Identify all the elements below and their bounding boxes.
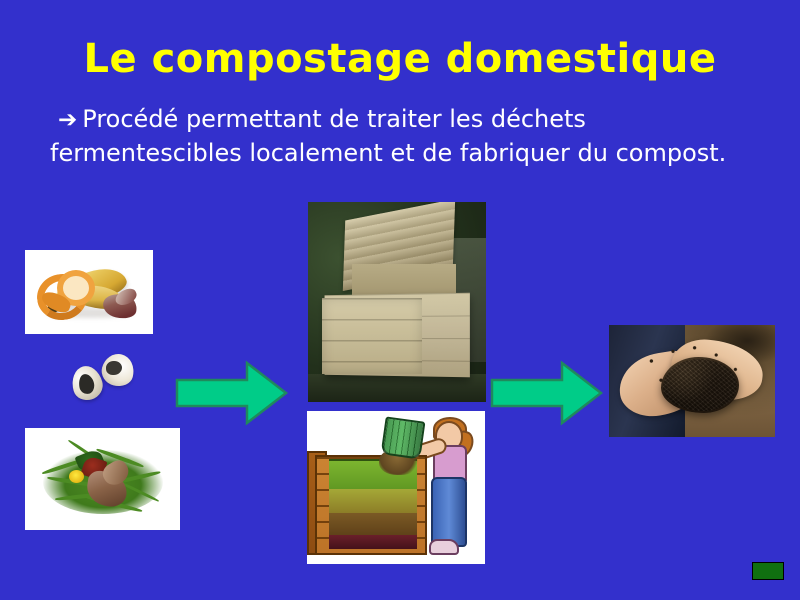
slide-canvas: Le compostage domestique ➔Procédé permet… — [0, 0, 800, 600]
green-bucket — [381, 416, 426, 459]
wooden-compost-bin-photo — [308, 202, 486, 402]
finished-compost-mound — [661, 357, 739, 413]
body-line-2-text: fermentescibles localement et de fabriqu… — [50, 138, 776, 169]
next-slide-button[interactable] — [752, 562, 784, 580]
body-line-1-text: Procédé permettant de traiter les déchet… — [82, 105, 586, 133]
right-arrow-icon — [490, 360, 603, 426]
compost-layer-brown — [329, 513, 417, 537]
cartoon-woman-jeans — [431, 477, 467, 547]
compost-layer-yellow — [329, 489, 417, 515]
arrow-bullet-icon: ➔ — [58, 107, 82, 133]
body-text: ➔Procédé permettant de traiter les déche… — [50, 104, 776, 169]
ground — [308, 374, 486, 402]
process-arrow-1 — [175, 360, 288, 426]
right-arrow-icon — [175, 360, 288, 426]
woman-emptying-bucket-cartoon — [307, 411, 485, 564]
garden-waste-photo — [25, 428, 180, 530]
compost-bin-front-panel — [322, 298, 422, 374]
page-title: Le compostage domestique — [0, 36, 800, 82]
dandelion-flower — [69, 470, 84, 483]
cracked-eggshells-image — [70, 352, 138, 406]
process-arrow-2 — [490, 360, 603, 426]
compost-layer-dark — [329, 535, 417, 549]
hands-holding-compost-photo — [609, 325, 775, 437]
cartoon-woman-shoe — [429, 539, 459, 555]
fruit-and-vegetable-peelings-photo — [25, 250, 153, 334]
